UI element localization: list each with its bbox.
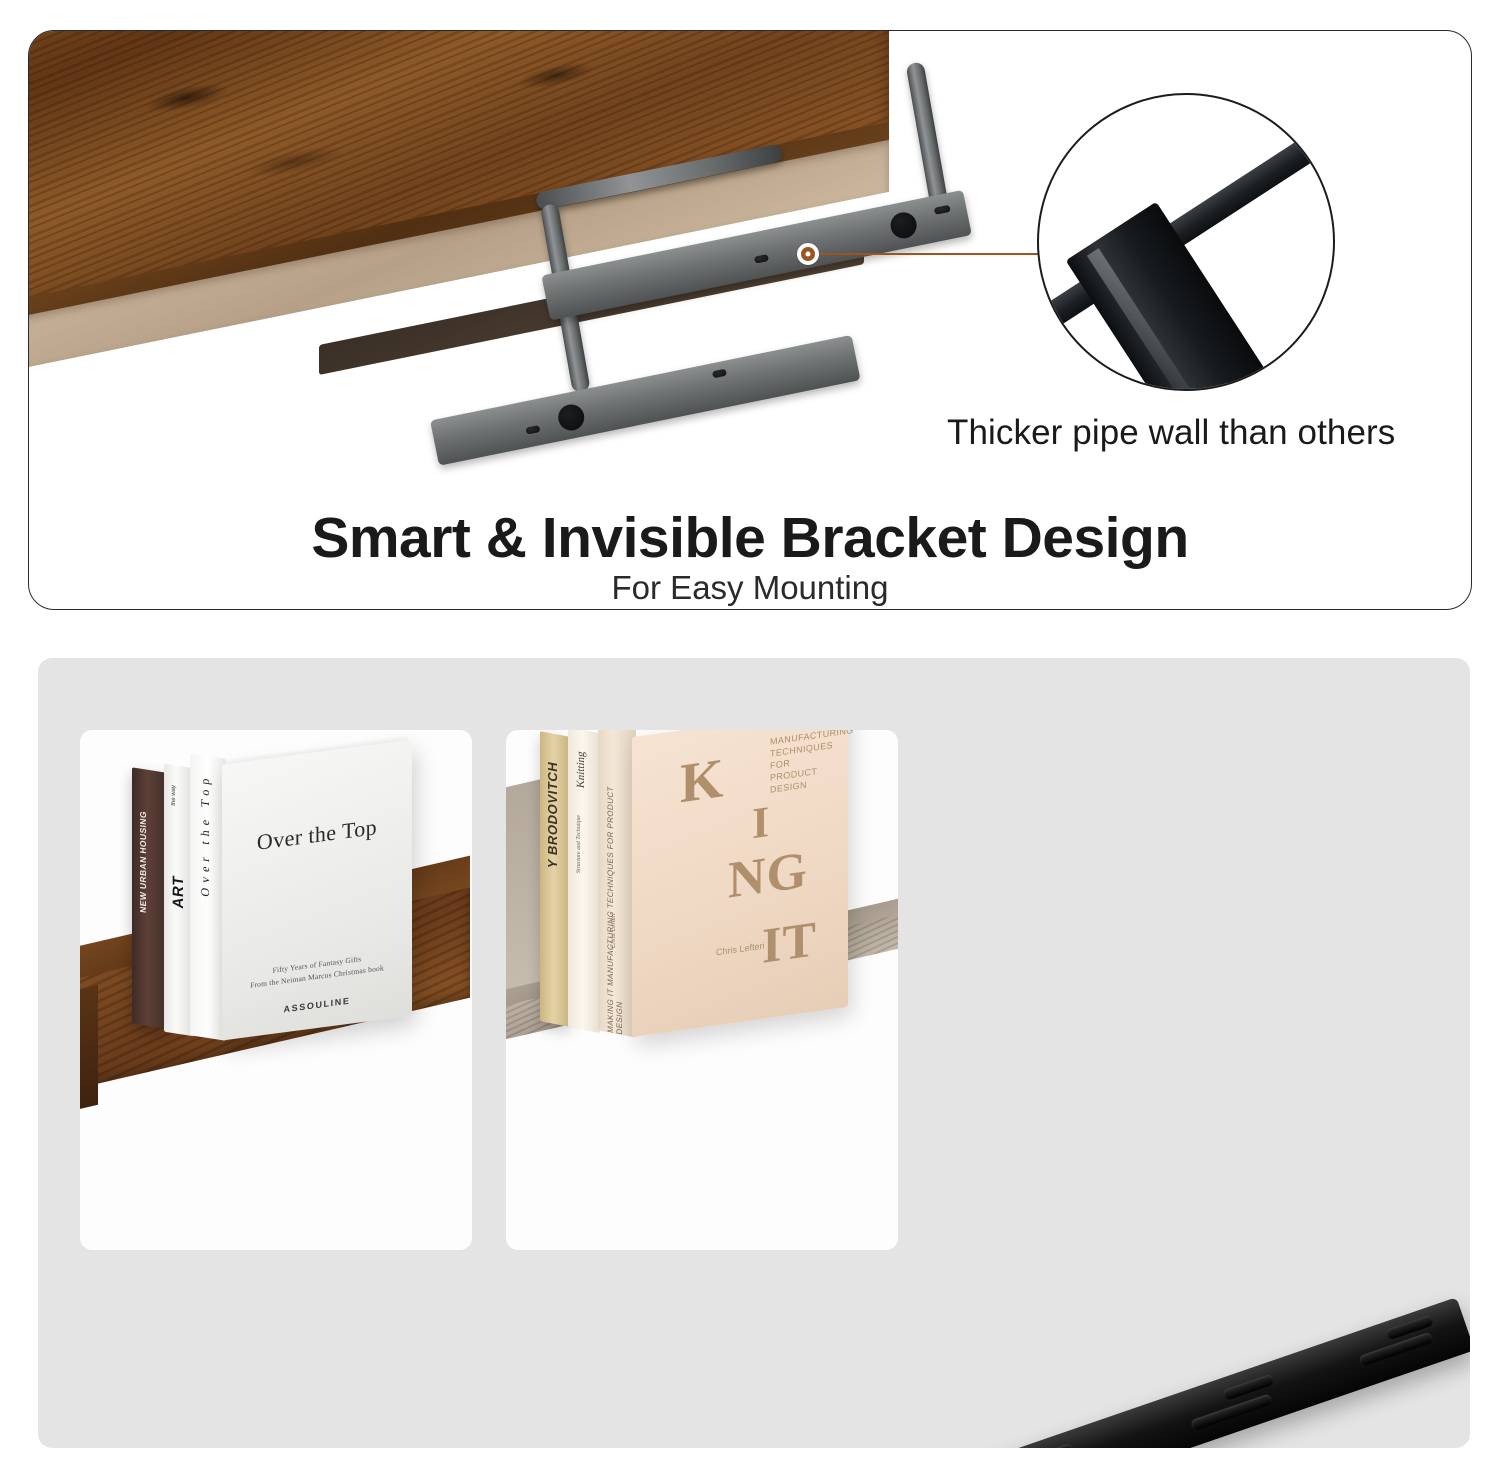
book-knitting: Knitting Structure and Technique — [568, 730, 600, 1033]
book-cover-publisher: ASSOULINE — [222, 987, 412, 1022]
book-spine-label: ART — [170, 875, 187, 910]
book-new-urban-housing: NEW URBAN HOUSING — [132, 767, 166, 1028]
bracket-slot — [1190, 1393, 1273, 1431]
book-cover-letter: K — [680, 746, 725, 816]
bracket-rod-right — [906, 61, 950, 212]
book-spine-label: Knitting — [575, 750, 587, 789]
book-cover-letter: IT — [762, 909, 817, 975]
book-making-it-cover: K I NG IT MANUFACTURING TECHNIQUES FOR P… — [632, 730, 848, 1037]
pipe-wall-magnifier — [1037, 93, 1335, 391]
bracket-design-panel: Thicker pipe wall than others Smart & In… — [28, 30, 1472, 610]
bracket-hole — [556, 402, 587, 433]
ours-comparison-card: NEW URBAN HOUSING ART the way Over the T… — [80, 730, 472, 1250]
black-bracket-wall-plate — [927, 1297, 1470, 1448]
bracket-slot — [754, 254, 769, 264]
book-spine-label: Over the Top — [198, 772, 213, 897]
book-making-it-spine: MAKING IT MANUFACTURING TECHNIQUES FOR P… — [598, 730, 636, 1038]
bracket-slot — [712, 369, 727, 379]
thicker-pipe-callout-text: Thicker pipe wall than others — [947, 413, 1467, 453]
others-comparison-card: Y BRODOVITCH Knitting Structure and Tech… — [506, 730, 898, 1250]
book-cover-letter: I — [752, 796, 770, 850]
book-spine-label: MAKING IT MANUFACTURING TECHNIQUES FOR P… — [606, 750, 624, 1035]
ours-shelf-side — [80, 985, 98, 1111]
book-brodovitch: Y BRODOVITCH — [540, 731, 570, 1027]
book-cover-author: Chris Lefteri — [716, 941, 765, 958]
book-over-the-top-spine: Over the Top — [190, 753, 226, 1041]
page-title: Smart & Invisible Bracket Design — [29, 505, 1471, 571]
book-spine-sublabel: the way — [171, 785, 177, 807]
bracket-slot — [934, 205, 951, 215]
bracket-slot — [1018, 1443, 1075, 1448]
page-subtitle: For Easy Mounting — [29, 569, 1471, 607]
comparison-panel: NEW URBAN HOUSING ART the way Over the T… — [38, 658, 1470, 1448]
book-spine-label: Y BRODOVITCH — [545, 760, 560, 870]
bracket-slot — [525, 425, 540, 435]
book-spine-author: Chris Lefteri — [610, 913, 617, 949]
callout-leader-line — [819, 253, 1047, 255]
callout-dot-pipe-wall — [797, 243, 819, 265]
bracket-hole — [888, 210, 919, 241]
book-cover-subtitle-block: MANUFACTURING TECHNIQUES FOR PRODUCT DES… — [770, 730, 854, 796]
black-bracket-image — [918, 1298, 1470, 1448]
book-spine-label: NEW URBAN HOUSING — [138, 810, 148, 913]
book-cover-letter: NG — [728, 840, 808, 910]
book-spine-sublabel: Structure and Technique — [576, 814, 582, 874]
book-over-the-top-cover: Over the Top Fifty Years of Fantasy Gift… — [222, 739, 412, 1040]
book-cover-title: Over the Top — [222, 809, 412, 860]
